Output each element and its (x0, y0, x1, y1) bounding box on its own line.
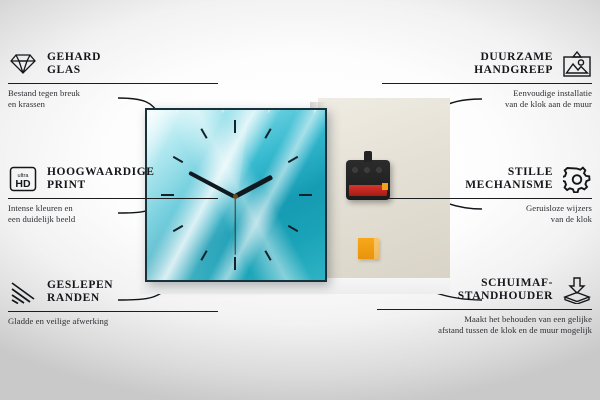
feature-title: STANDHOUDER (458, 290, 553, 303)
feature-subtitle: Gladde en veilige afwerking (8, 316, 218, 327)
feature-subtitle: afstand tussen de klok en de muur mogeli… (377, 325, 592, 336)
divider (8, 198, 218, 199)
feature-title: HOOGWAARDIGE (47, 166, 155, 179)
gear-icon (562, 165, 592, 193)
hour-marker (234, 120, 236, 133)
foam-spacer (358, 238, 379, 259)
divider (377, 309, 592, 310)
picture-frame-hanger-icon (562, 50, 592, 78)
feature-stille-mechanisme: STILLE MECHANISME Geruisloze wijzers van… (382, 165, 592, 224)
divider (8, 311, 218, 312)
diamond-icon (8, 50, 38, 78)
diagonal-lines-icon (8, 278, 38, 306)
second-hand (234, 197, 235, 255)
divider (382, 83, 592, 84)
feature-title: HANDGREEP (474, 64, 553, 77)
feature-hoogwaardige-print: ultra HD HOOGWAARDIGE PRINT Intense kleu… (8, 165, 218, 224)
feature-duurzame-handgreep: DUURZAME HANDGREEP Eenvoudige installati… (382, 50, 592, 109)
feature-title: MECHANISME (465, 179, 553, 192)
feature-subtitle: en krassen (8, 99, 218, 110)
feature-title: PRINT (47, 179, 155, 192)
movement-shaft (364, 151, 372, 162)
divider (382, 198, 592, 199)
feature-subtitle: van de klok (382, 214, 592, 225)
feature-title: GEHARD (47, 51, 101, 64)
feature-subtitle: Geruisloze wijzers (382, 203, 592, 214)
ultra-hd-icon: ultra HD (8, 165, 38, 193)
infographic-canvas: GEHARD GLAS Bestand tegen breuk en krass… (0, 0, 600, 400)
feature-title: STILLE (465, 166, 553, 179)
clock-hub (233, 194, 238, 199)
hour-marker (299, 194, 312, 196)
feature-schuimafstandhouder: SCHUIMAF- STANDHOUDER Maakt het behouden… (377, 276, 592, 335)
hour-marker (234, 257, 236, 270)
movement-detail (350, 165, 386, 181)
feature-subtitle: een duidelijk beeld (8, 214, 218, 225)
feature-title: GLAS (47, 64, 101, 77)
feature-title: DUURZAME (474, 51, 553, 64)
feature-subtitle: Eenvoudige installatie (382, 88, 592, 99)
feature-subtitle: Intense kleuren en (8, 203, 218, 214)
feature-subtitle: Bestand tegen breuk (8, 88, 218, 99)
feature-title: SCHUIMAF- (458, 277, 553, 290)
feature-title: RANDEN (47, 292, 113, 305)
feature-geslepen-randen: GESLEPEN RANDEN Gladde en veilige afwerk… (8, 278, 218, 327)
feature-gehard-glas: GEHARD GLAS Bestand tegen breuk en krass… (8, 50, 218, 109)
divider (8, 83, 218, 84)
svg-text:HD: HD (15, 178, 31, 190)
foam-spacer-arrow-icon (562, 276, 592, 304)
feature-title: GESLEPEN (47, 279, 113, 292)
feature-subtitle: Maakt het behouden van een gelijke (377, 314, 592, 325)
feature-subtitle: van de klok aan de muur (382, 99, 592, 110)
